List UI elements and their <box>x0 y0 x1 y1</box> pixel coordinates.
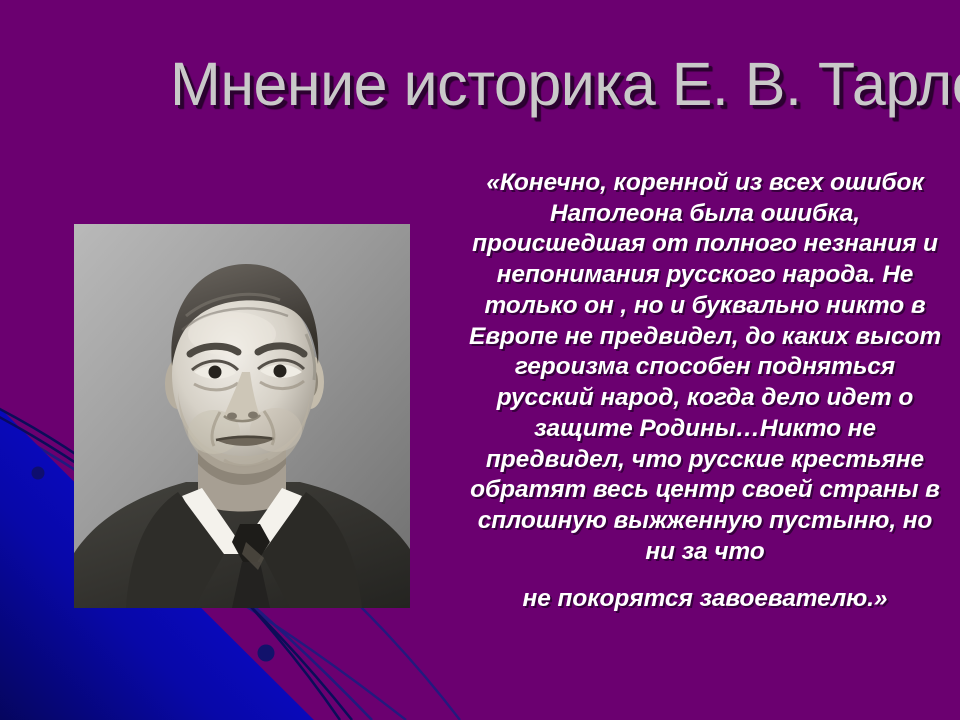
portrait-photo <box>74 224 410 608</box>
decor-dot-upper <box>32 467 45 480</box>
decor-dot-lower <box>258 645 275 662</box>
quote-paragraph-2: не покорятся завоевателю.» <box>466 584 944 615</box>
page-title: Мнение историка Е. В. Тарле: <box>170 52 960 116</box>
portrait-illustration <box>74 224 410 608</box>
quote-paragraph-1: «Конечно, коренной из всех ошибок Наполе… <box>466 168 944 568</box>
quote-text-block: «Конечно, коренной из всех ошибок Наполе… <box>466 168 944 614</box>
decor-arcs-outer <box>236 600 460 720</box>
presentation-slide: Мнение историка Е. В. Тарле: <box>0 0 960 720</box>
